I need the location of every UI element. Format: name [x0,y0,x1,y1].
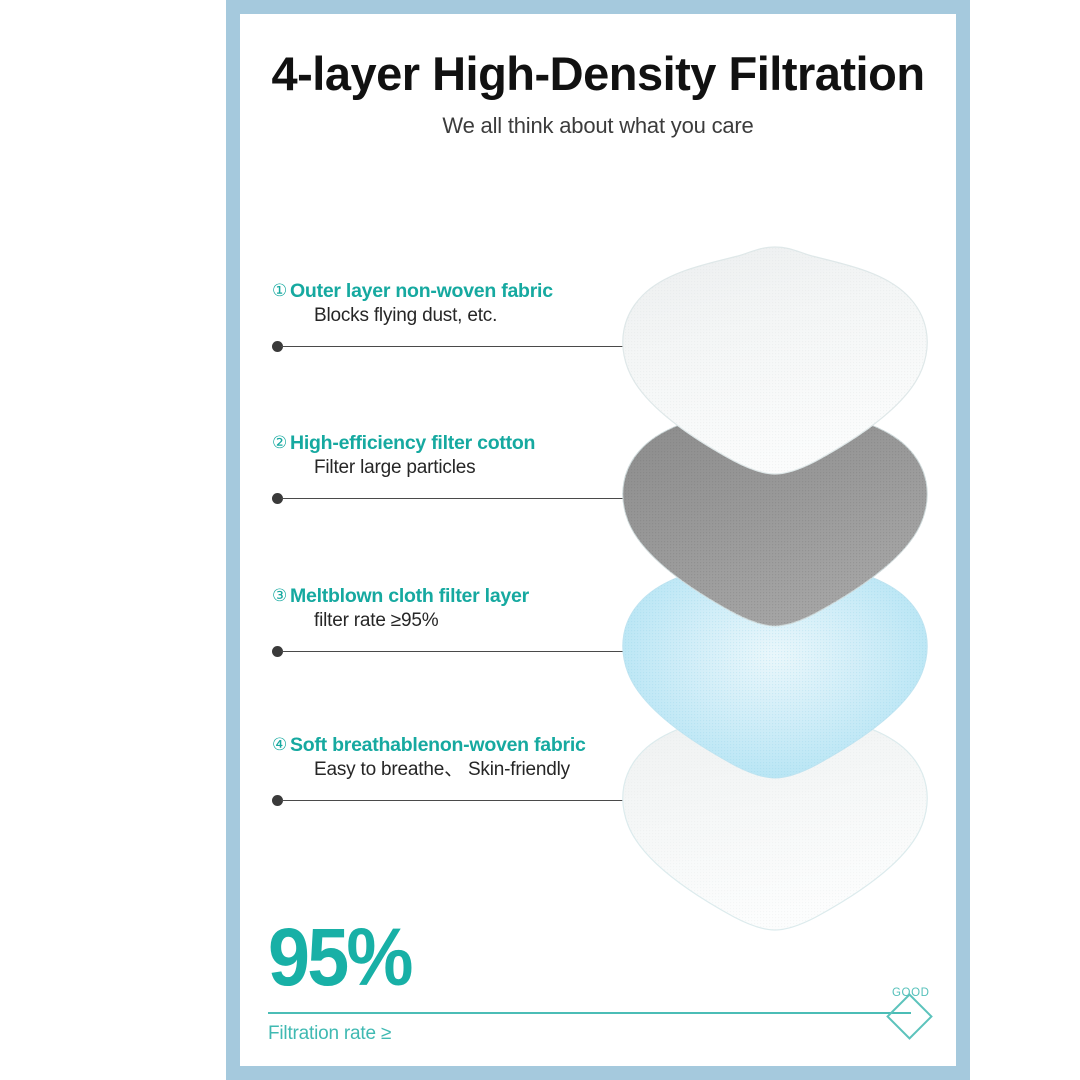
header: 4-layer High-Density Filtration We all t… [240,48,956,139]
mask-shape-outer-white [610,245,940,475]
layer-1-number: ① [272,281,287,301]
leader-dot-icon [272,795,283,806]
leader-line [281,800,642,801]
layer-4-description: Easy to breathe、 Skin-friendly [314,759,586,782]
layer-2-number: ② [272,433,287,453]
layer-1-title: Outer layer non-woven fabric [290,280,553,302]
layer-1-leader [272,340,642,352]
layer-3-description: filter rate ≥95% [314,610,529,633]
layer-callout-1: ①Outer layer non-woven fabric Blocks fly… [272,280,553,328]
leader-dot-icon [272,646,283,657]
page-subtitle: We all think about what you care [240,113,956,139]
leader-line [281,346,642,347]
layer-4-title: Soft breathablenon-woven fabric [290,734,586,756]
page-title: 4-layer High-Density Filtration [240,48,956,101]
layer-3-leader [272,645,642,657]
layer-4-number: ④ [272,735,287,755]
filtration-rate-marker: GOOD [886,987,946,1041]
leader-line [281,651,642,652]
layer-3-number: ③ [272,586,287,606]
layer-4-heading: ④Soft breathablenon-woven fabric [272,734,586,756]
layer-2-description: Filter large particles [314,457,535,480]
layer-2-title: High-efficiency filter cotton [290,432,535,454]
layer-1-heading: ①Outer layer non-woven fabric [272,280,553,302]
filtration-rate-value: 95% [268,917,411,999]
mask-layer-illustration [560,245,980,915]
leader-line [281,498,642,499]
layer-3-heading: ③Meltblown cloth filter layer [272,585,529,607]
leader-dot-icon [272,493,283,504]
layer-callout-4: ④Soft breathablenon-woven fabric Easy to… [272,734,586,782]
layer-2-heading: ②High-efficiency filter cotton [272,432,535,454]
leader-dot-icon [272,341,283,352]
filtration-rate-scale-line [268,1012,911,1014]
poster-canvas: 4-layer High-Density Filtration We all t… [0,0,1080,1080]
layer-3-title: Meltblown cloth filter layer [290,585,529,607]
layer-1-description: Blocks flying dust, etc. [314,305,553,328]
layer-2-leader [272,492,642,504]
layer-callout-3: ③Meltblown cloth filter layer filter rat… [272,585,529,633]
filtration-rate-stat: 95% Filtration rate ≥ GOOD [268,925,940,1045]
layer-callout-2: ②High-efficiency filter cotton Filter la… [272,432,535,480]
diamond-icon [886,993,933,1040]
filtration-rate-caption: Filtration rate ≥ [268,1023,391,1045]
layer-4-leader [272,794,642,806]
